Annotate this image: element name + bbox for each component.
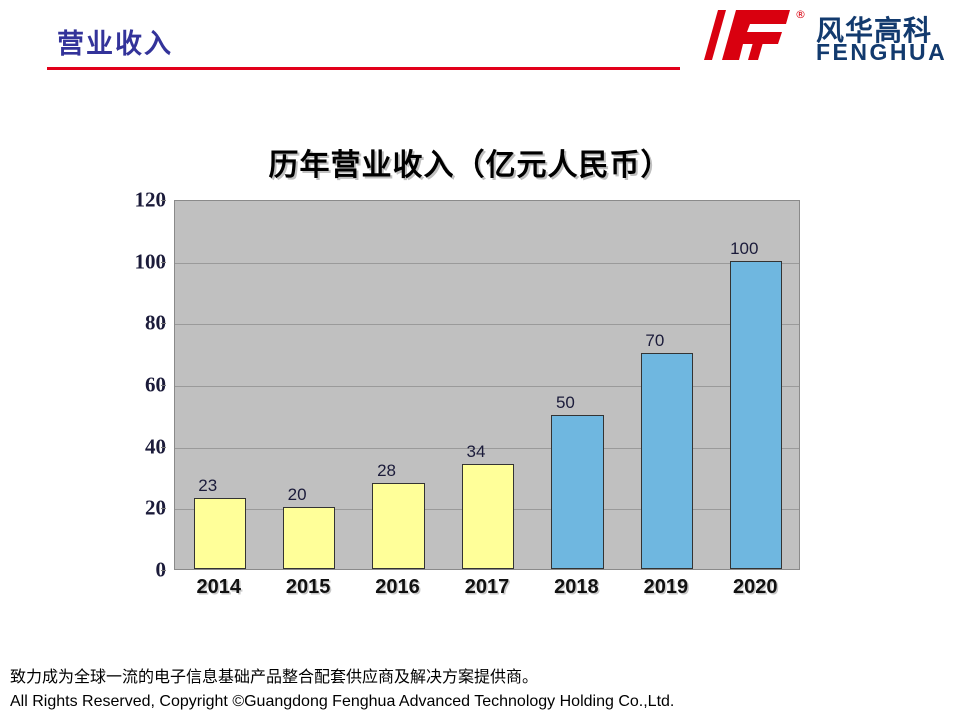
brand-logo: ® 风华高科 FENGHUA — [692, 8, 948, 66]
gridline — [175, 263, 799, 264]
y-tick-label: 0 — [100, 558, 166, 583]
x-tick-label-2017: 2017 — [442, 576, 531, 599]
bar-value-label-2014: 23 — [182, 476, 234, 496]
bar-2018 — [551, 415, 603, 569]
registered-trademark-icon: ® — [795, 8, 806, 21]
x-axis: 2014201520162017201820192020 — [174, 576, 800, 606]
y-tick-mark — [161, 262, 166, 263]
y-tick-label: 120 — [100, 188, 166, 213]
bar-2016 — [372, 483, 424, 569]
x-tick-label-2018: 2018 — [532, 576, 621, 599]
bar-2015 — [283, 507, 335, 569]
y-tick-mark — [161, 323, 166, 324]
x-tick-label-2019: 2019 — [621, 576, 710, 599]
bar-2017 — [462, 464, 514, 569]
y-tick-mark — [161, 385, 166, 386]
brand-name-en: FENGHUA — [816, 39, 947, 66]
footer-slogan: 致力成为全球一流的电子信息基础产品整合配套供应商及解决方案提供商。 — [10, 666, 950, 690]
bar-value-label-2018: 50 — [539, 393, 591, 413]
y-tick-mark — [161, 447, 166, 448]
title-underline-rule — [47, 67, 680, 70]
x-tick-label-2020: 2020 — [711, 576, 800, 599]
bar-value-label-2017: 34 — [450, 442, 502, 462]
x-tick-label-2016: 2016 — [353, 576, 442, 599]
gridline — [175, 386, 799, 387]
revenue-bar-chart: 历年营业收入（亿元人民币） 020406080100120 2320283450… — [100, 130, 840, 610]
bar-value-label-2020: 100 — [718, 239, 770, 259]
y-tick-label: 20 — [100, 496, 166, 521]
bar-value-label-2015: 20 — [271, 485, 323, 505]
y-tick-mark — [161, 570, 166, 571]
bar-value-label-2019: 70 — [629, 331, 681, 351]
slide-footer: 致力成为全球一流的电子信息基础产品整合配套供应商及解决方案提供商。 All Ri… — [10, 666, 950, 714]
gridline — [175, 324, 799, 325]
fenghua-logo-mark-icon — [692, 10, 796, 60]
y-tick-mark — [161, 508, 166, 509]
bar-2020 — [730, 261, 782, 569]
y-tick-label: 80 — [100, 311, 166, 336]
slide-header: 营业收入 ® 风华高科 FENGHUA — [0, 0, 960, 80]
chart-title: 历年营业收入（亿元人民币） — [100, 140, 840, 184]
plot-area: 232028345070100 — [174, 200, 800, 570]
x-tick-label-2014: 2014 — [174, 576, 263, 599]
bar-value-label-2016: 28 — [360, 461, 412, 481]
y-axis: 020406080100120 — [100, 200, 166, 570]
y-tick-label: 40 — [100, 434, 166, 459]
page-title: 营业收入 — [57, 22, 173, 61]
footer-copyright: All Rights Reserved, Copyright ©Guangdon… — [10, 690, 950, 714]
bar-2019 — [641, 353, 693, 569]
y-tick-label: 60 — [100, 373, 166, 398]
y-tick-label: 100 — [100, 249, 166, 274]
x-tick-label-2015: 2015 — [263, 576, 352, 599]
y-tick-mark — [161, 200, 166, 201]
bar-2014 — [194, 498, 246, 569]
